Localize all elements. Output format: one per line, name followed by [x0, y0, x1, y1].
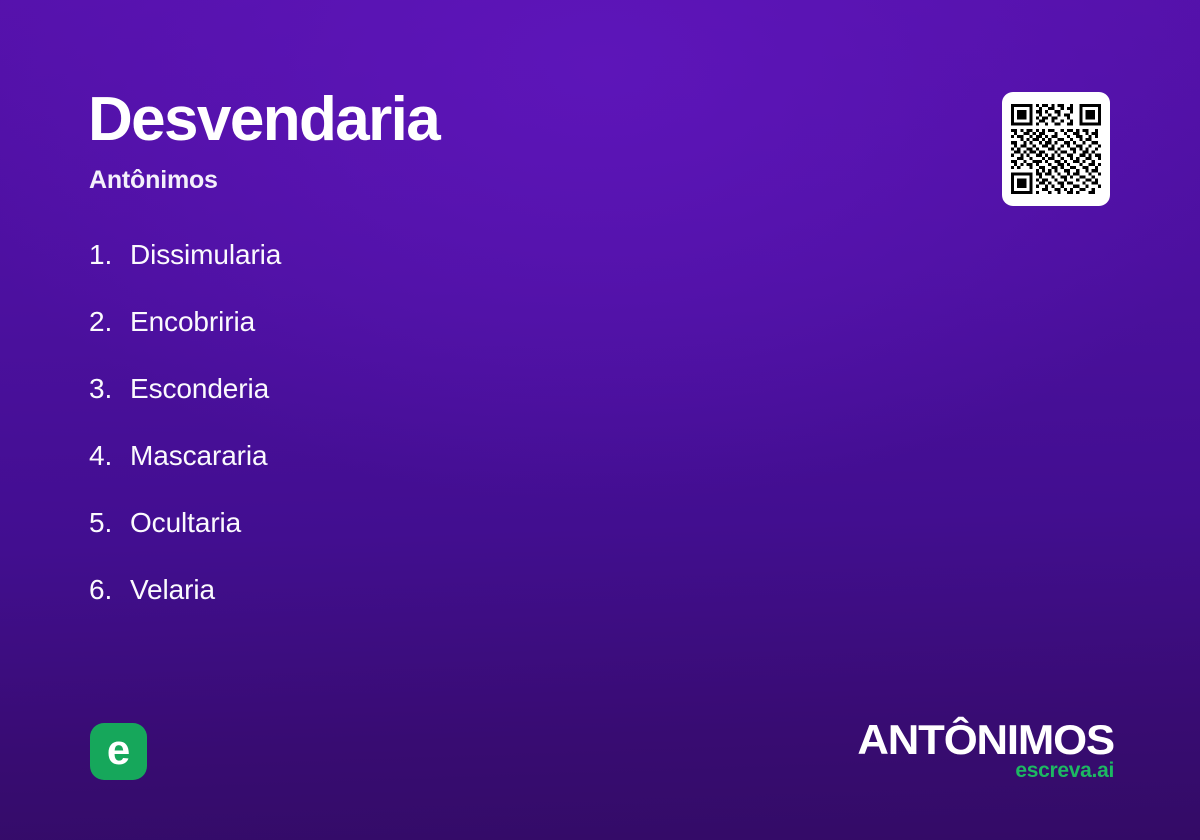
list-item-word: Encobriria — [130, 305, 255, 339]
list-item: 2. Encobriria — [89, 305, 849, 372]
page-title: Desvendaria — [88, 89, 439, 151]
list-item-word: Esconderia — [130, 372, 269, 406]
list-item-index: 1. — [89, 238, 130, 272]
escreva-badge-icon: e — [90, 723, 147, 780]
list-item: 3. Esconderia — [89, 372, 849, 439]
list-item-word: Velaria — [130, 573, 215, 607]
list-item-index: 3. — [89, 372, 130, 406]
list-item: 4. Mascararia — [89, 439, 849, 506]
list-item: 1. Dissimularia — [89, 238, 849, 305]
qr-code-icon[interactable] — [1002, 92, 1110, 206]
list-item-index: 4. — [89, 439, 130, 473]
list-item-index: 2. — [89, 305, 130, 339]
page-subtitle: Antônimos — [89, 168, 218, 193]
list-item: 5. Ocultaria — [89, 506, 849, 573]
list-item: 6. Velaria — [89, 573, 849, 640]
list-item-index: 6. — [89, 573, 130, 607]
antonyms-list: 1. Dissimularia 2. Encobriria 3. Esconde… — [89, 238, 849, 640]
list-item-word: Ocultaria — [130, 506, 241, 540]
antonyms-card: Desvendaria Antônimos — [0, 0, 1200, 840]
list-item-word: Dissimularia — [130, 238, 281, 272]
list-item-word: Mascararia — [130, 439, 267, 473]
footer-logo-domain: escreva.ai — [854, 760, 1114, 782]
list-item-index: 5. — [89, 506, 130, 540]
footer-logo-title: ANTÔNIMOS — [844, 718, 1114, 762]
footer-logo: ANTÔNIMOS escreva.ai — [854, 718, 1114, 782]
badge-letter: e — [107, 729, 130, 771]
